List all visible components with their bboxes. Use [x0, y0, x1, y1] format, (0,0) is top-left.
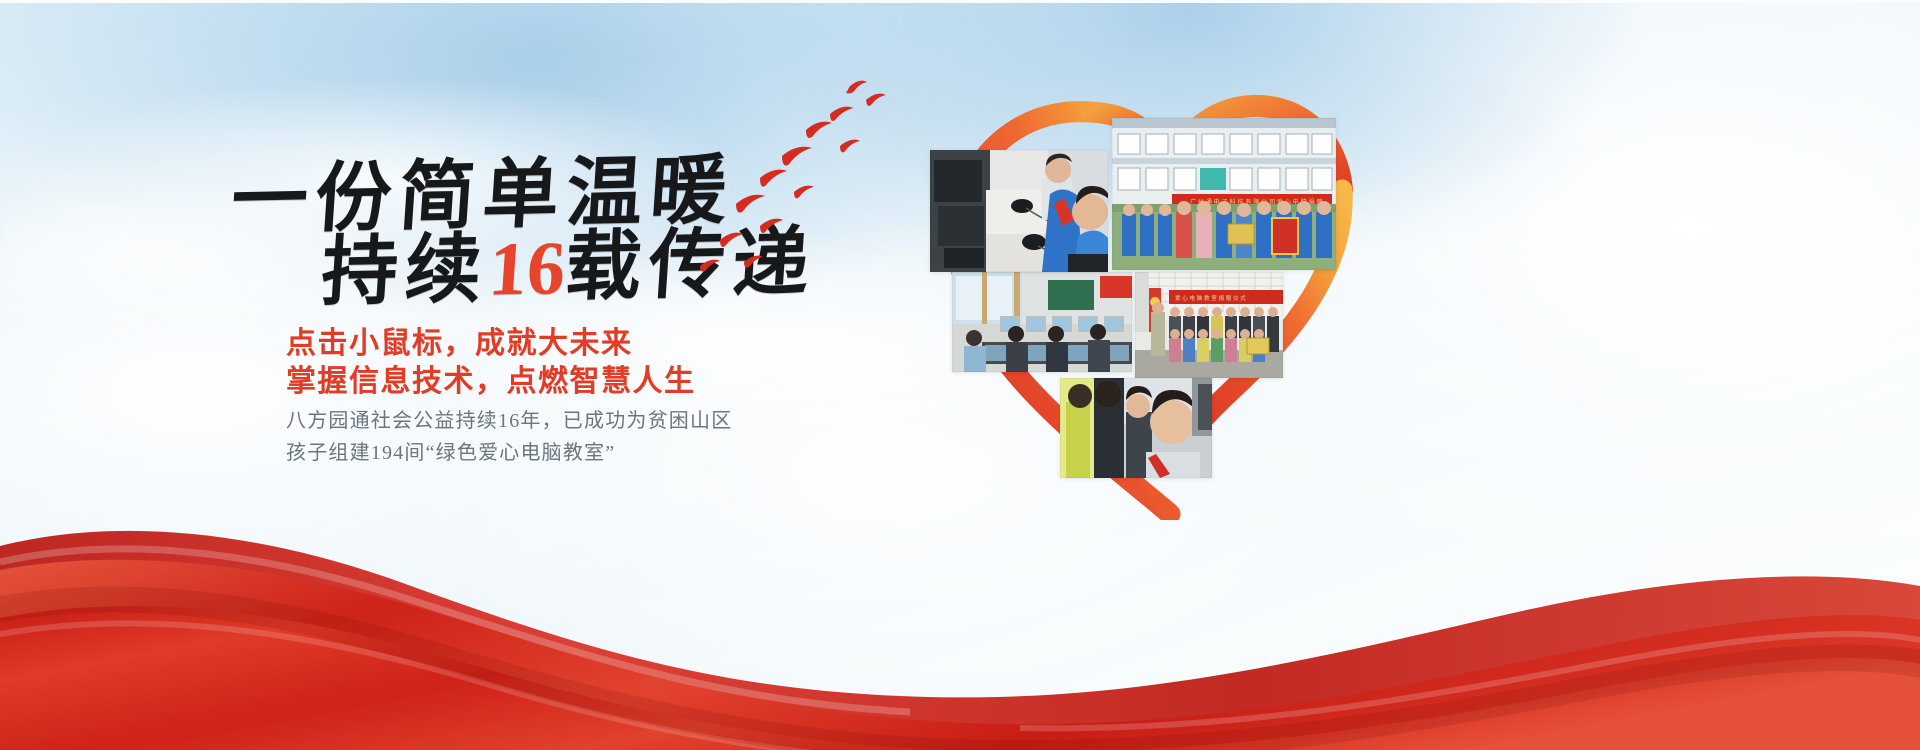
red-silk-ribbon-icon — [0, 420, 1920, 750]
photo-classroom-wide-image — [952, 272, 1132, 372]
subtitle-line-1: 点击小鼠标，成就大未来 — [286, 325, 696, 363]
subtitle-line-2: 掌握信息技术，点燃智慧人生 — [286, 363, 696, 401]
photo-computer-lab-closeup-image — [930, 150, 1108, 272]
svg-text:爱 心 电 脑 教 室 捐 赠 仪 式: 爱 心 电 脑 教 室 捐 赠 仪 式 — [1175, 294, 1246, 302]
photo-school-donation-ceremony: 广 州 通 电 子 科 技 有 限 公 司 爱 心 电 脑 捐 赠 — [1112, 118, 1336, 270]
photo-group-banner-image: 爱 心 电 脑 教 室 捐 赠 仪 式 — [1135, 272, 1283, 378]
headline-line-2-prefix: 持续 — [319, 228, 492, 315]
photo-group-banner: 爱 心 电 脑 教 室 捐 赠 仪 式 — [1135, 272, 1283, 378]
photo-students-learning — [1060, 378, 1212, 478]
photo-classroom-wide — [952, 272, 1132, 372]
photo-school-donation-ceremony-image: 广 州 通 电 子 科 技 有 限 公 司 爱 心 电 脑 捐 赠 — [1112, 118, 1336, 270]
subtitle: 点击小鼠标，成就大未来 掌握信息技术，点燃智慧人生 — [286, 325, 696, 401]
photo-computer-lab-closeup — [930, 150, 1108, 272]
photo-students-learning-image — [1060, 378, 1212, 478]
banner-stage: 一份简单温暖 持续16载传递 点击小鼠标，成就大未来 掌握信息技术，点燃智慧人生… — [0, 0, 1920, 750]
red-ribbon-decoration — [0, 420, 1920, 750]
headline-years-number: 16 — [486, 226, 568, 312]
